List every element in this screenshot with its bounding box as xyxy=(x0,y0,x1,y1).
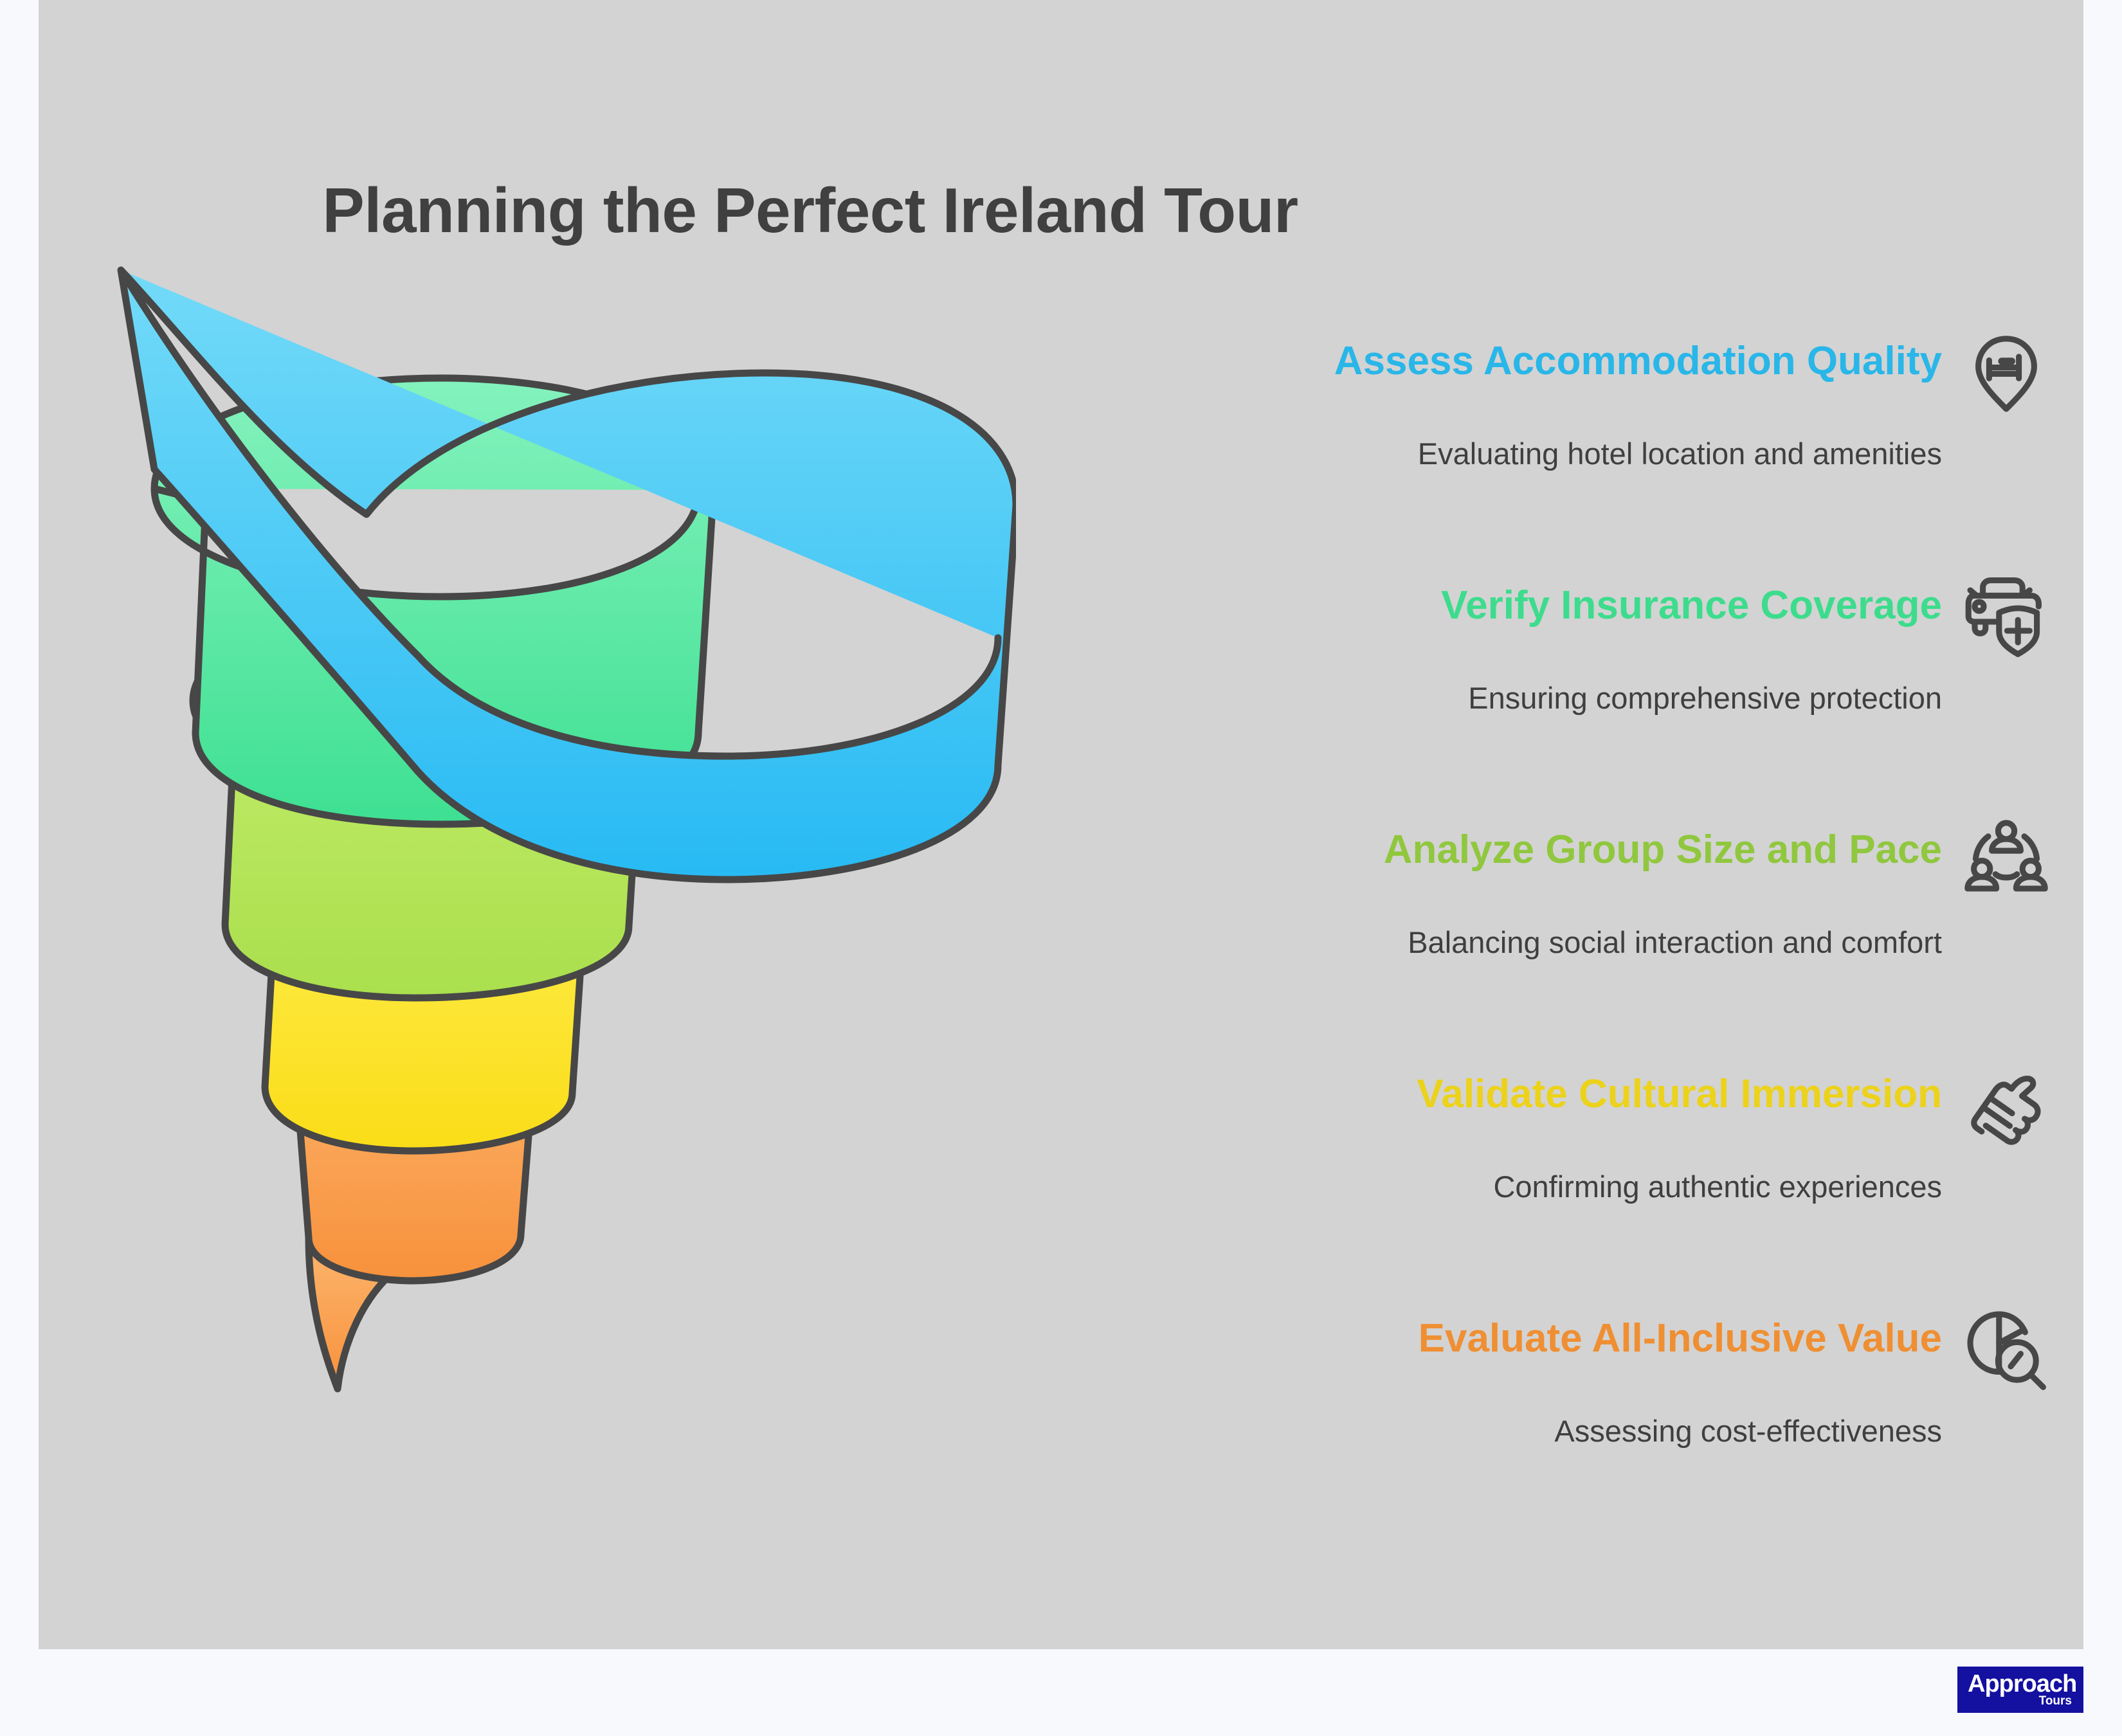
step-1-subtitle: Evaluating hotel location and amenities xyxy=(1418,437,1942,471)
logo-primary-text: Approach xyxy=(1968,1672,2076,1696)
step-2-title: Verify Insurance Coverage xyxy=(1441,584,1942,628)
step-5-subtitle: Assessing cost-effectiveness xyxy=(1554,1415,1942,1448)
thumbs-up-hand-icon xyxy=(1961,1061,2051,1151)
funnel-diagram xyxy=(116,257,1016,1415)
step-1-title: Assess Accommodation Quality xyxy=(1334,339,1942,383)
step-4-subtitle: Confirming authentic experiences xyxy=(1493,1170,1942,1204)
step-item-3[interactable]: Analyze Group Size and Pace xyxy=(1119,823,2058,1067)
page-title: Planning the Perfect Ireland Tour xyxy=(39,174,1582,247)
step-2-header-row: Verify Insurance Coverage xyxy=(1119,579,2058,656)
pie-chart-search-icon xyxy=(1961,1305,2051,1395)
steps-list: Assess Accommodation Quality Evaluating … xyxy=(1119,334,2058,1556)
step-item-5[interactable]: Evaluate All-Inclusive Value Assessing c… xyxy=(1119,1312,2058,1556)
step-5-header-row: Evaluate All-Inclusive Value xyxy=(1119,1312,2058,1389)
step-4-title: Validate Cultural Immersion xyxy=(1417,1072,1942,1116)
step-1-header-row: Assess Accommodation Quality xyxy=(1119,334,2058,411)
people-group-icon xyxy=(1961,817,2051,907)
infographic-canvas: Planning the Perfect Ireland Tour xyxy=(0,0,2122,1736)
step-item-2[interactable]: Verify Insurance Coverage xyxy=(1119,579,2058,823)
step-3-subtitle: Balancing social interaction and comfort xyxy=(1408,926,1942,959)
step-item-4[interactable]: Validate Cultural Immersion xyxy=(1119,1067,2058,1312)
step-item-1[interactable]: Assess Accommodation Quality Evaluating … xyxy=(1119,334,2058,579)
car-shield-icon xyxy=(1961,572,2051,662)
logo-secondary-text: Tours xyxy=(2039,1695,2072,1707)
step-4-header-row: Validate Cultural Immersion xyxy=(1119,1067,2058,1144)
step-5-title: Evaluate All-Inclusive Value xyxy=(1419,1317,1942,1361)
step-3-title: Analyze Group Size and Pace xyxy=(1384,828,1942,872)
brand-logo[interactable]: Approach Tours xyxy=(1957,1667,2083,1713)
map-pin-bed-icon xyxy=(1961,328,2051,418)
step-2-subtitle: Ensuring comprehensive protection xyxy=(1468,682,1942,715)
step-3-header-row: Analyze Group Size and Pace xyxy=(1119,823,2058,900)
infographic-board: Planning the Perfect Ireland Tour xyxy=(39,0,2083,1649)
